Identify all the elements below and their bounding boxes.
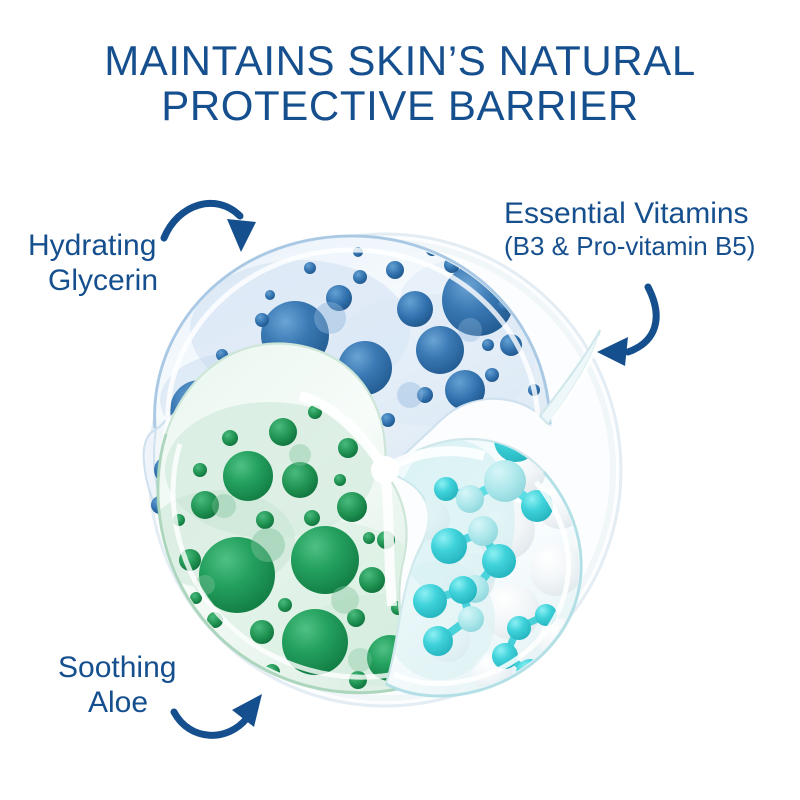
arrow-glycerin <box>164 203 256 252</box>
arrow-aloe <box>174 694 262 735</box>
arrow-vitamins <box>597 287 656 366</box>
poster-canvas: MAINTAINS SKIN’S NATURAL PROTECTIVE BARR… <box>0 0 800 800</box>
ingredient-graphic <box>0 0 800 800</box>
